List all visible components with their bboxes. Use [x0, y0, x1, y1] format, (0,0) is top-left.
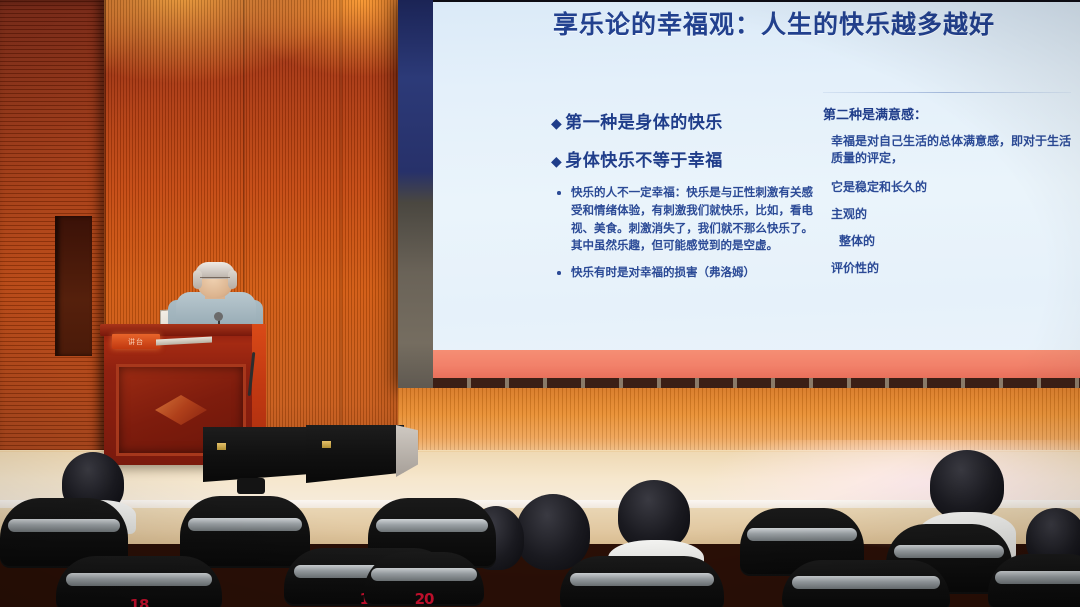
speaker-glasses: [200, 277, 230, 284]
stage-monitor-left: [203, 427, 307, 482]
monitor-badge-icon: [322, 441, 331, 448]
seat-bar: [8, 519, 121, 532]
slide-right-column: 第二种是满意感： 幸福是对自己生活的总体满意感，即对于生活质量的评定， 它是稳定…: [823, 92, 1071, 286]
seat-bar: [570, 573, 714, 586]
microphone-icon: [214, 312, 223, 321]
seat-bar: [371, 568, 477, 581]
wall-seam: [340, 0, 342, 470]
seat-bar: [188, 518, 302, 531]
seat-bar: [376, 519, 489, 532]
slide-bullet-2: 快乐有时是对幸福的损害（弗洛姆）: [551, 264, 813, 282]
podium-sign-label: 讲台: [112, 334, 160, 349]
seat-bar: [747, 528, 856, 541]
slide-diamond-point-2: ◆身体快乐不等于幸福: [551, 146, 813, 171]
audience-head: [930, 450, 1004, 520]
projection-screen: 享乐论的幸福观：人生的快乐越多越好 ◆第一种是身体的快乐 ◆身体快乐不等于幸福 …: [398, 0, 1080, 390]
slide-title: 享乐论的幸福观：人生的快乐越多越好: [553, 8, 1058, 43]
list-item[interactable]: [560, 556, 724, 607]
seat-bar: [66, 573, 212, 586]
screen-bezel: [398, 0, 433, 390]
seat-number: 20: [415, 590, 434, 607]
right-column-line-2: 主观的: [831, 205, 1071, 222]
list-item[interactable]: [988, 554, 1080, 607]
lecture-hall-photo: 享乐论的幸福观：人生的快乐越多越好 ◆第一种是身体的快乐 ◆身体快乐不等于幸福 …: [0, 0, 1080, 607]
right-column-line-4: 评价性的: [831, 259, 1071, 276]
diamond-bullet-icon: ◆: [551, 116, 562, 132]
diamond-point-2-label: 身体快乐不等于幸福: [565, 151, 723, 171]
presentation-slide: 享乐论的幸福观：人生的快乐越多越好 ◆第一种是身体的快乐 ◆身体快乐不等于幸福 …: [433, 2, 1080, 390]
slide-diamond-point-1: ◆第一种是身体的快乐: [551, 108, 813, 133]
list-item[interactable]: 20: [364, 552, 484, 606]
slide-left-column: ◆第一种是身体的快乐 ◆身体快乐不等于幸福 快乐的人不一定幸福：快乐是与正性刺激…: [551, 108, 813, 291]
right-column-paragraph: 幸福是对自己生活的总体满意感，即对于生活质量的评定，: [831, 133, 1071, 168]
slide-bullet-1: 快乐的人不一定幸福：快乐是与正性刺激有关感受和情绪体验，有刺激我们就快乐，比如，…: [551, 184, 813, 255]
slide-footer-band: [433, 350, 1080, 378]
list-item[interactable]: [782, 560, 950, 607]
diamond-point-1-label: 第一种是身体的快乐: [565, 113, 723, 133]
stage-side-door: [55, 216, 92, 356]
diamond-bullet-icon: ◆: [551, 154, 562, 170]
stage-monitor-foot: [237, 478, 265, 494]
list-item[interactable]: 18: [56, 556, 222, 607]
monitor-badge-icon: [217, 443, 226, 450]
seat-number: 18: [130, 596, 149, 607]
seat-bar: [792, 576, 940, 589]
right-column-line-3: 整体的: [839, 232, 1071, 249]
slide-divider: [823, 92, 1071, 93]
right-column-heading: 第二种是满意感：: [823, 104, 1071, 123]
right-column-line-1: 它是稳定和长久的: [831, 178, 1071, 195]
podium-diamond-ornament: [155, 395, 207, 425]
podium-name-sign: 讲台: [112, 334, 160, 349]
seat-bar: [995, 571, 1080, 584]
slide-footer-strip: [433, 378, 1080, 388]
